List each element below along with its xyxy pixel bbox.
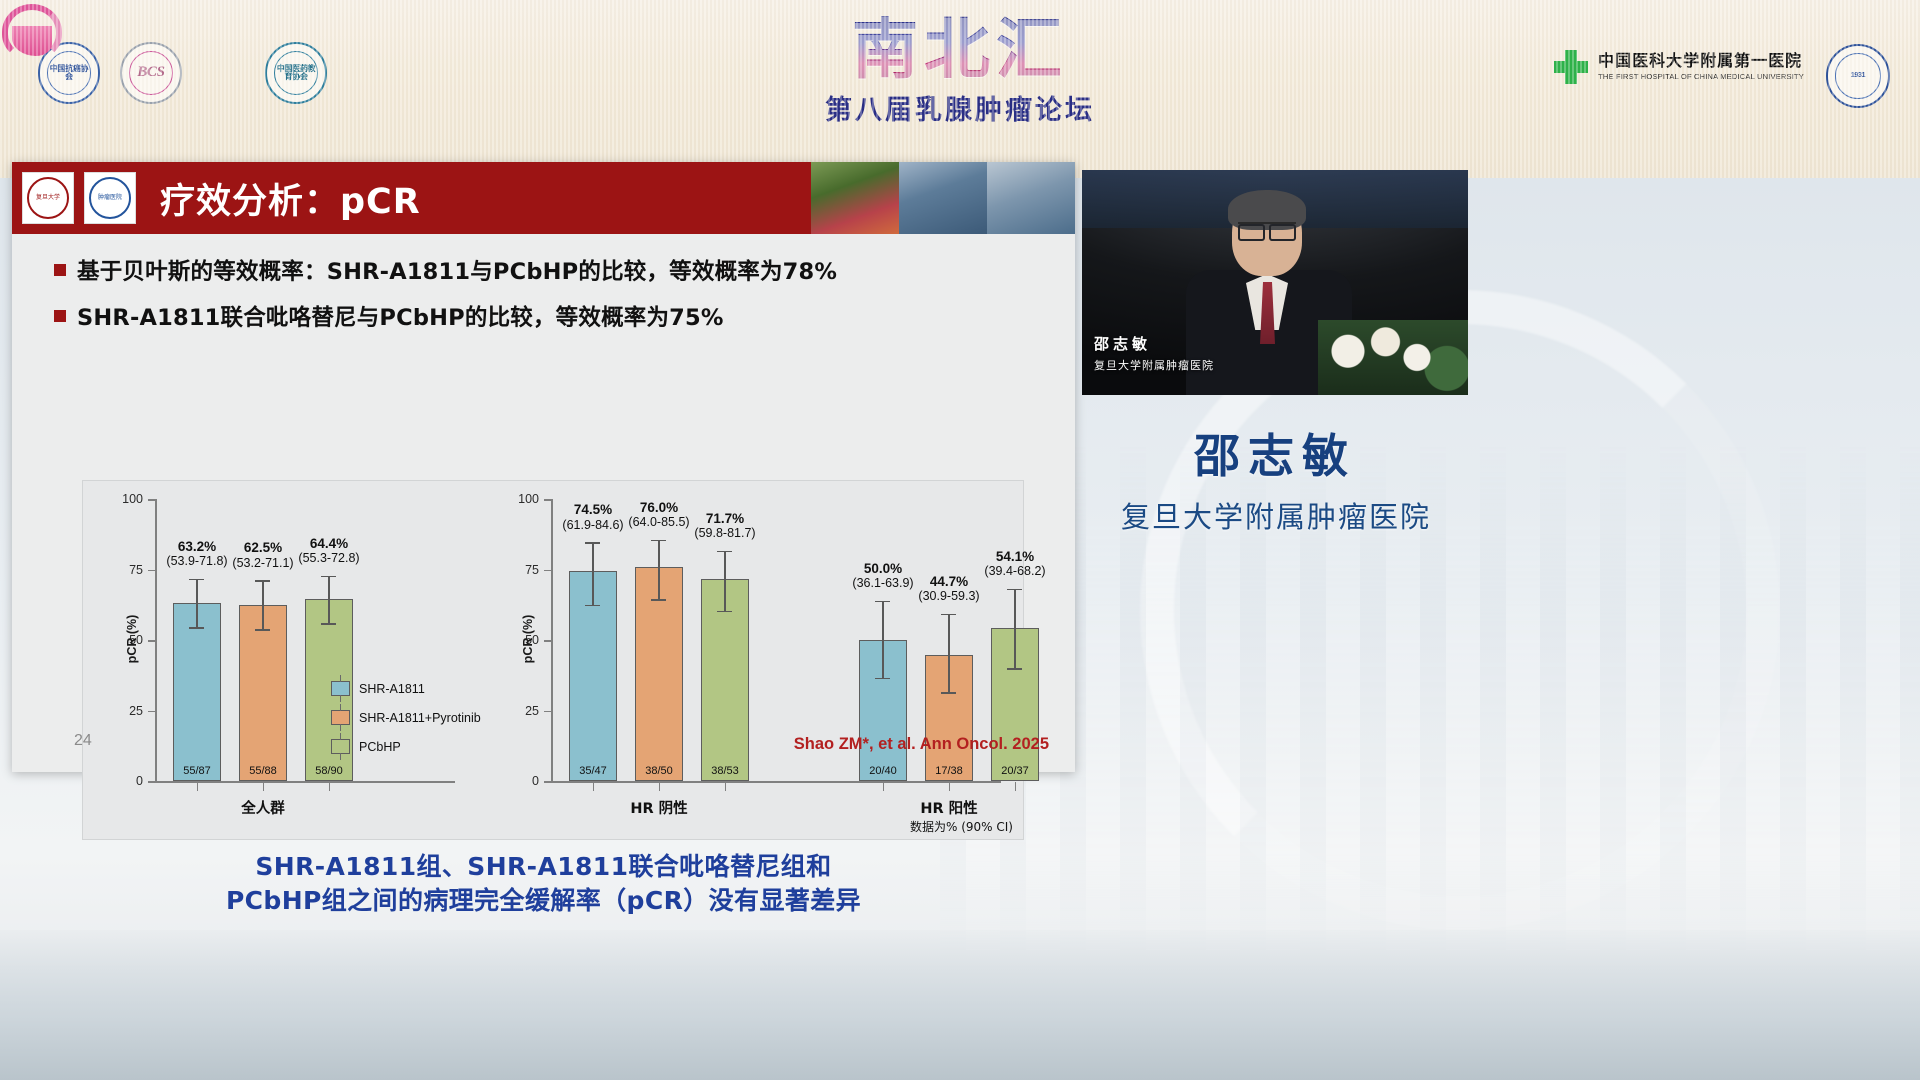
bar-value: 64.4% bbox=[283, 536, 375, 551]
conclusion-line-1: SHR-A1811组、SHR-A1811联合吡咯替尼组和 bbox=[12, 850, 1075, 884]
chart-panel-hr-subgroups: 0255075100pCR (%)35/4774.5%(61.9-84.6)38… bbox=[483, 481, 1025, 839]
legend-color-swatch bbox=[331, 739, 350, 754]
chart-ci-note: 数据为% (90% CI) bbox=[910, 818, 1013, 835]
x-axis bbox=[155, 781, 455, 783]
x-axis-group-label: 全人群 bbox=[193, 797, 333, 818]
photo-campus-2 bbox=[899, 162, 987, 234]
photo-campus-1 bbox=[811, 162, 899, 234]
y-axis-label: pCR (%) bbox=[521, 604, 535, 674]
bullet-text: 基于贝叶斯的等效概率：SHR-A1811与PCbHP的比较，等效概率为78% bbox=[77, 254, 837, 286]
event-logo: 南北汇 第八届乳腺肿瘤论坛 bbox=[740, 16, 1180, 127]
y-axis-tick bbox=[544, 711, 551, 713]
fudan-university-logo: 复旦大学 bbox=[22, 172, 74, 224]
hospital-seal-year: 1931 bbox=[1835, 53, 1881, 99]
chart-panel-overall: 0255075100pCR (%)55/8763.2%(53.9-71.8)55… bbox=[83, 481, 483, 839]
x-axis-tick bbox=[949, 782, 950, 791]
title-photo-strip bbox=[811, 162, 1075, 234]
y-axis-label: pCR (%) bbox=[125, 604, 139, 674]
y-axis-tick bbox=[544, 781, 551, 783]
bullet-square-icon bbox=[54, 310, 66, 322]
x-axis-tick bbox=[1015, 782, 1016, 791]
video-overlay-name: 邵志敏 bbox=[1094, 333, 1214, 354]
slide-title-bar: 复旦大学 肿瘤医院 疗效分析：pCR bbox=[12, 162, 1075, 234]
bar-value: 71.7% bbox=[679, 511, 771, 526]
legend-label: SHR-A1811 bbox=[359, 682, 425, 696]
legend-label: PCbHP bbox=[359, 740, 401, 754]
y-axis-tick bbox=[148, 570, 155, 572]
speaker-name: 邵志敏 bbox=[1082, 420, 1468, 486]
event-logo-title: 南北汇 bbox=[740, 16, 1180, 82]
bar-value-label: 71.7%(59.8-81.7) bbox=[679, 511, 771, 540]
x-axis-tick bbox=[329, 782, 330, 791]
y-axis-tick bbox=[148, 640, 155, 642]
pink-ribbon-icon bbox=[0, 0, 66, 66]
legend-label: SHR-A1811+Pyrotinib bbox=[359, 711, 481, 725]
bar-count-label: 58/90 bbox=[306, 765, 352, 777]
slide-bullet-list: 基于贝叶斯的等效概率：SHR-A1811与PCbHP的比较，等效概率为78% S… bbox=[12, 234, 1075, 332]
x-axis-tick bbox=[593, 782, 594, 791]
green-cross-icon bbox=[1554, 50, 1588, 84]
slide-conclusion: SHR-A1811组、SHR-A1811联合吡咯替尼组和 PCbHP组之间的病理… bbox=[12, 850, 1075, 918]
legend-item-1: SHR-A1811 bbox=[331, 681, 481, 696]
bar-count-label: 38/53 bbox=[702, 765, 748, 777]
pcr-bar-chart: 0255075100pCR (%)55/8763.2%(53.9-71.8)55… bbox=[82, 480, 1024, 840]
bar-value-label: 44.7%(30.9-59.3) bbox=[903, 574, 995, 603]
y-axis-tick bbox=[148, 711, 155, 713]
bar-value-label: 64.4%(55.3-72.8) bbox=[283, 536, 375, 565]
legend-color-swatch bbox=[331, 681, 350, 696]
event-logo-subtitle: 第八届乳腺肿瘤论坛 bbox=[740, 88, 1180, 127]
bar-count-label: 55/88 bbox=[240, 765, 286, 777]
hospital-logo: 中国医科大学附属第一医院 THE FIRST HOSPITAL OF CHINA… bbox=[1554, 50, 1804, 84]
y-axis-tick bbox=[544, 640, 551, 642]
y-axis-tick-label: 75 bbox=[129, 563, 143, 577]
y-axis-tick bbox=[148, 499, 155, 501]
hospital-seal-logo: 1931 bbox=[1826, 44, 1890, 108]
x-axis-tick bbox=[263, 782, 264, 791]
bullet-square-icon bbox=[54, 264, 66, 276]
chart-bar: 55/87 bbox=[173, 603, 221, 781]
logo-pink-ribbon bbox=[0, 0, 66, 66]
x-axis-tick bbox=[197, 782, 198, 791]
speaker-glasses bbox=[1238, 222, 1296, 235]
error-bar bbox=[1014, 589, 1016, 670]
bar-count-label: 35/47 bbox=[570, 765, 616, 777]
stage-flowers bbox=[1318, 320, 1468, 395]
presentation-slide[interactable]: 复旦大学 肿瘤医院 疗效分析：pCR 基于贝叶斯的等效概率：SHR-A1811与… bbox=[12, 162, 1075, 772]
event-banner: 中国抗癌协会 BCS 中国医药教育协会 南北汇 第八届乳腺肿瘤论坛 中国医科大学… bbox=[0, 0, 1920, 178]
x-axis-tick bbox=[725, 782, 726, 791]
legend-color-swatch bbox=[331, 710, 350, 725]
slide-page-number: 24 bbox=[74, 732, 92, 750]
error-bar bbox=[262, 580, 264, 630]
y-axis-tick bbox=[544, 570, 551, 572]
cancer-hospital-logo: 肿瘤医院 bbox=[84, 172, 136, 224]
legend-item-2: SHR-A1811+Pyrotinib bbox=[331, 710, 481, 725]
bar-ci: (55.3-72.8) bbox=[283, 551, 375, 565]
logo-text: BCS bbox=[129, 51, 173, 95]
video-overlay-affiliation: 复旦大学附属肿瘤医院 bbox=[1094, 357, 1214, 373]
y-axis-tick-label: 0 bbox=[532, 774, 539, 788]
video-name-overlay: 邵志敏 复旦大学附属肿瘤医院 bbox=[1094, 333, 1214, 373]
logo-bcs: BCS bbox=[120, 42, 182, 104]
bullet-text: SHR-A1811联合吡咯替尼与PCbHP的比较，等效概率为75% bbox=[77, 300, 724, 332]
bar-count-label: 20/37 bbox=[992, 765, 1038, 777]
x-axis-tick bbox=[883, 782, 884, 791]
y-axis-tick-label: 75 bbox=[525, 563, 539, 577]
x-axis-group-label: HR 阳性 bbox=[879, 797, 1019, 818]
logo-text: 复旦大学 bbox=[27, 177, 69, 219]
bar-ci: (30.9-59.3) bbox=[903, 589, 995, 603]
error-bar bbox=[196, 579, 198, 629]
y-axis-tick bbox=[148, 781, 155, 783]
y-axis-tick-label: 0 bbox=[136, 774, 143, 788]
y-axis-tick-label: 100 bbox=[518, 492, 539, 506]
speaker-video-feed[interactable]: 邵志敏 复旦大学附属肿瘤医院 bbox=[1082, 170, 1468, 395]
legend-item-3: PCbHP bbox=[331, 739, 481, 754]
bar-count-label: 20/40 bbox=[860, 765, 906, 777]
y-axis-tick-label: 100 bbox=[122, 492, 143, 506]
error-bar bbox=[948, 614, 950, 694]
x-axis-group-label: HR 阴性 bbox=[589, 797, 729, 818]
error-bar bbox=[658, 540, 660, 601]
photo-campus-3 bbox=[987, 162, 1075, 234]
y-axis-tick-label: 25 bbox=[525, 704, 539, 718]
speaker-info: 邵志敏 复旦大学附属肿瘤医院 bbox=[1082, 420, 1920, 536]
logo-text: 中国医药教育协会 bbox=[274, 51, 318, 95]
bar-count-label: 17/38 bbox=[926, 765, 972, 777]
error-bar bbox=[882, 601, 884, 679]
decorative-ground bbox=[0, 930, 1920, 1080]
hospital-name-en: THE FIRST HOSPITAL OF CHINA MEDICAL UNIV… bbox=[1598, 73, 1804, 82]
bar-count-label: 38/50 bbox=[636, 765, 682, 777]
speaker-affiliation: 复旦大学附属肿瘤医院 bbox=[1026, 494, 1526, 536]
bar-ci: (59.8-81.7) bbox=[679, 526, 771, 540]
error-bar bbox=[328, 576, 330, 625]
chart-bar: 55/88 bbox=[239, 605, 287, 781]
bullet-item: SHR-A1811联合吡咯替尼与PCbHP的比较，等效概率为75% bbox=[54, 286, 1075, 332]
chart-legend: SHR-A1811SHR-A1811+PyrotinibPCbHP bbox=[331, 681, 481, 754]
logo-text: 肿瘤医院 bbox=[89, 177, 131, 219]
hospital-name-cn: 中国医科大学附属第一医院 bbox=[1598, 52, 1804, 70]
slide-citation: Shao ZM*, et al. Ann Oncol. 2025 bbox=[794, 735, 1049, 754]
slide-title: 疗效分析：pCR bbox=[160, 173, 421, 224]
bar-value-label: 54.1%(39.4-68.2) bbox=[969, 549, 1061, 578]
bar-ci: (39.4-68.2) bbox=[969, 564, 1061, 578]
x-axis-tick bbox=[659, 782, 660, 791]
bullet-item: 基于贝叶斯的等效概率：SHR-A1811与PCbHP的比较，等效概率为78% bbox=[54, 240, 1075, 286]
y-axis-tick-label: 25 bbox=[129, 704, 143, 718]
error-bar bbox=[724, 551, 726, 613]
logo-breast-society: 中国医药教育协会 bbox=[265, 42, 327, 104]
bar-value: 54.1% bbox=[969, 549, 1061, 564]
error-bar bbox=[592, 542, 594, 606]
conclusion-line-2: PCbHP组之间的病理完全缓解率（pCR）没有显著差异 bbox=[12, 884, 1075, 918]
bar-count-label: 55/87 bbox=[174, 765, 220, 777]
y-axis bbox=[551, 499, 553, 781]
y-axis-tick bbox=[544, 499, 551, 501]
x-axis bbox=[551, 781, 1001, 783]
